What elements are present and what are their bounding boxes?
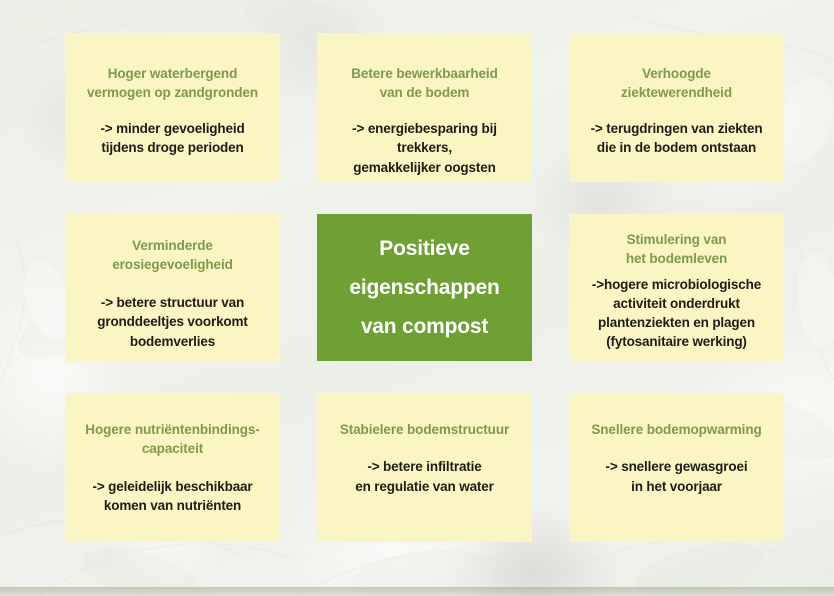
card-body-line: ->hogere microbiologische <box>592 275 761 294</box>
card-title: Stabielere bodemstructuur <box>340 420 509 439</box>
card-body-line: activiteit onderdrukt <box>592 294 761 313</box>
card-title-line: van de bodem <box>351 83 497 102</box>
card-title-line: Verhoogde <box>621 64 732 83</box>
card-title-line: vermogen op zandgronden <box>87 83 258 102</box>
card-body-line: en regulatie van water <box>355 477 494 497</box>
card-body: -> snellere gewasgroei in het voorjaar <box>606 457 748 496</box>
card-stimulering-bodemleven[interactable]: Stimulering van het bodemleven ->hogere … <box>569 214 784 361</box>
card-title: Hoger waterbergend vermogen op zandgrond… <box>87 64 258 103</box>
card-body: -> minder gevoeligheid tijdens droge per… <box>100 119 244 158</box>
bottom-color-band <box>0 587 834 596</box>
card-body: -> betere structuur van gronddeeltjes vo… <box>97 293 247 352</box>
card-title-line: ziektewerendheid <box>621 83 732 102</box>
card-title-line: capaciteit <box>85 439 259 458</box>
card-hogere-nutrientenbindingscapaciteit[interactable]: Hogere nutriëntenbindings- capaciteit ->… <box>65 393 280 542</box>
card-verminderde-erosiegevoeligheid[interactable]: Verminderde erosiegevoeligheid -> betere… <box>65 214 280 361</box>
card-title: Betere bewerkbaarheid van de bodem <box>351 64 497 103</box>
card-betere-bewerkbaarheid[interactable]: Betere bewerkbaarheid van de bodem -> en… <box>317 33 532 182</box>
center-panel-positieve-eigenschappen: Positieve eigenschappen van compost <box>317 214 532 361</box>
card-body-line: -> energiebesparing bij trekkers, <box>325 119 524 158</box>
center-panel-line: van compost <box>361 307 488 346</box>
card-body-line: plantenziekten en plagen <box>592 313 761 332</box>
card-body-line: komen van nutriënten <box>92 496 252 516</box>
card-body: ->hogere microbiologische activiteit ond… <box>592 275 761 352</box>
card-stabielere-bodemstructuur[interactable]: Stabielere bodemstructuur -> betere infi… <box>317 393 532 542</box>
card-body-line: in het voorjaar <box>606 477 748 497</box>
center-panel-line: Positieve <box>379 229 469 268</box>
card-body-line: bodemverlies <box>97 332 247 352</box>
card-body-line: die in de bodem ontstaan <box>591 138 763 158</box>
card-verhoogde-ziektewerendheid[interactable]: Verhoogde ziektewerendheid -> terugdring… <box>569 33 784 182</box>
card-title-line: Betere bewerkbaarheid <box>351 64 497 83</box>
card-body-line: -> snellere gewasgroei <box>606 457 748 477</box>
card-body-line: -> terugdringen van ziekten <box>591 119 763 139</box>
card-title-line: Stimulering van <box>626 230 727 249</box>
card-title: Verhoogde ziektewerendheid <box>621 64 732 103</box>
card-body-line: -> minder gevoeligheid <box>100 119 244 139</box>
center-panel-line: eigenschappen <box>349 268 499 307</box>
benefits-grid: Hoger waterbergend vermogen op zandgrond… <box>65 33 784 542</box>
card-body-line: gemakkelijker oogsten <box>325 158 524 178</box>
card-body-line: -> betere infiltratie <box>355 457 494 477</box>
card-title-line: Hogere nutriëntenbindings- <box>85 420 259 439</box>
card-snellere-bodemopwarming[interactable]: Snellere bodemopwarming -> snellere gewa… <box>569 393 784 542</box>
card-body: -> geleidelijk beschikbaar komen van nut… <box>92 477 252 516</box>
card-body-line: (fytosanitaire werking) <box>592 332 761 351</box>
card-title: Verminderde erosiegevoeligheid <box>112 236 233 275</box>
card-title-line: Stabielere bodemstructuur <box>340 420 509 439</box>
card-body: -> betere infiltratie en regulatie van w… <box>355 457 494 496</box>
card-title: Hogere nutriëntenbindings- capaciteit <box>85 420 259 459</box>
card-title-line: erosiegevoeligheid <box>112 255 233 274</box>
card-title-line: Snellere bodemopwarming <box>591 420 761 439</box>
card-title-line: Verminderde <box>112 236 233 255</box>
card-body-line: -> betere structuur van <box>97 293 247 313</box>
card-body-line: gronddeeltjes voorkomt <box>97 312 247 332</box>
card-body: -> terugdringen van ziekten die in de bo… <box>591 119 763 158</box>
card-title: Snellere bodemopwarming <box>591 420 761 439</box>
card-hoger-waterbergend-vermogen[interactable]: Hoger waterbergend vermogen op zandgrond… <box>65 33 280 182</box>
card-body-line: tijdens droge perioden <box>100 138 244 158</box>
card-title-line: het bodemleven <box>626 249 727 268</box>
card-title: Stimulering van het bodemleven <box>626 230 727 269</box>
card-title-line: Hoger waterbergend <box>87 64 258 83</box>
slide-canvas: Hoger waterbergend vermogen op zandgrond… <box>0 0 834 596</box>
card-body: -> energiebesparing bij trekkers, gemakk… <box>325 119 524 178</box>
card-body-line: -> geleidelijk beschikbaar <box>92 477 252 497</box>
